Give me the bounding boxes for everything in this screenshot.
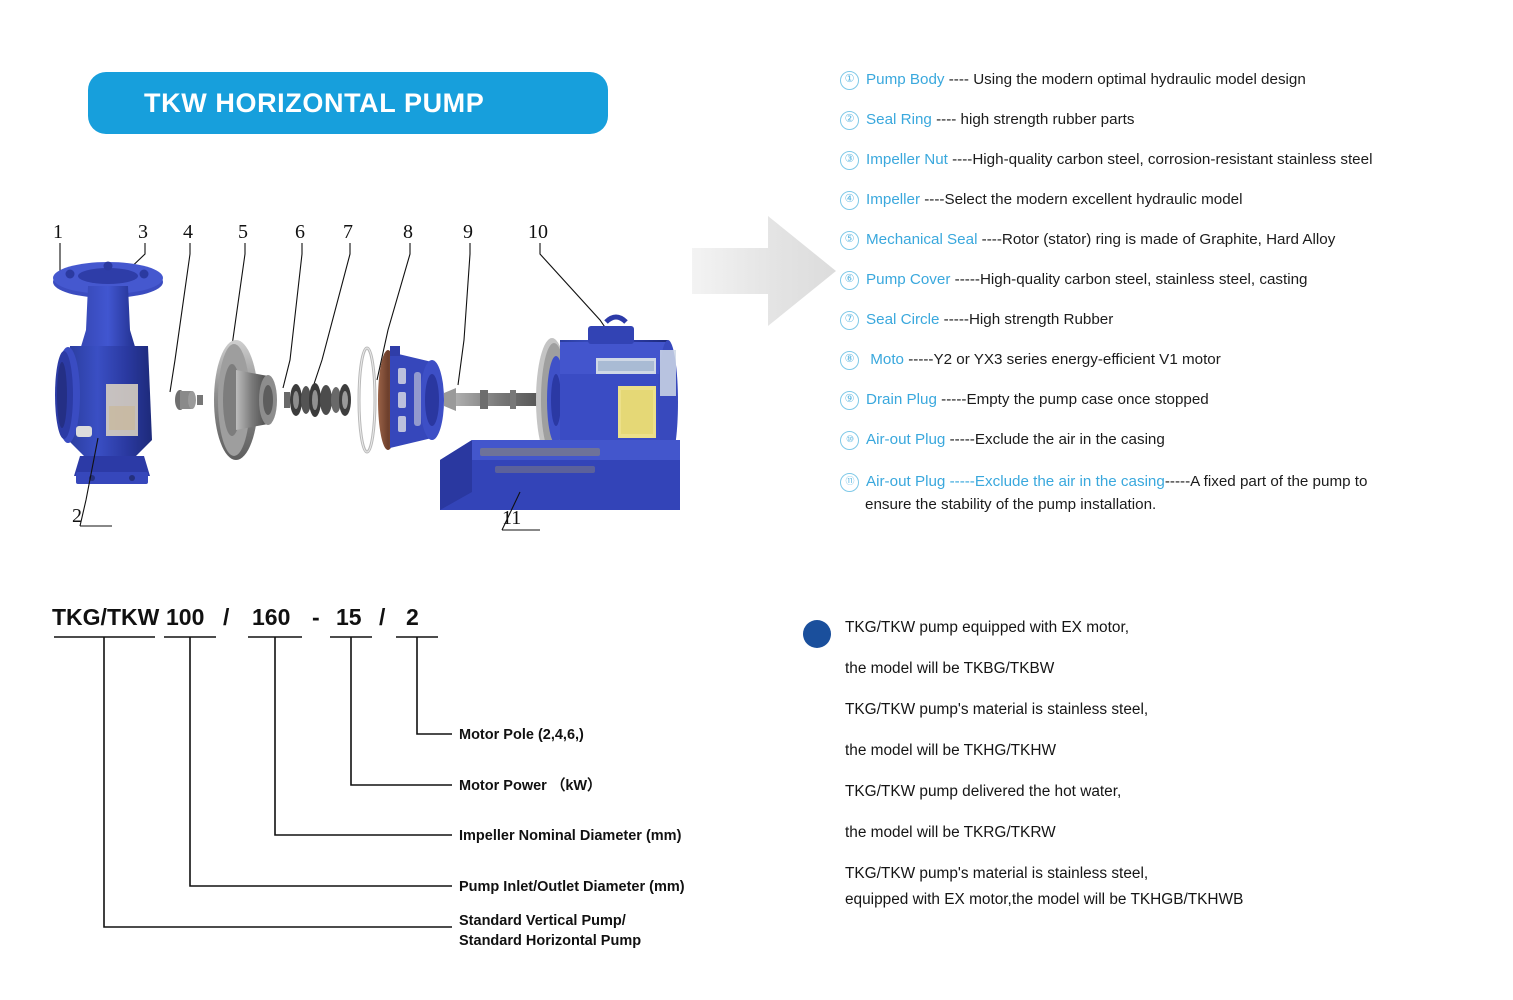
legend-number-3: ③ bbox=[840, 151, 859, 170]
model-code-pole: 2 bbox=[406, 604, 419, 630]
motor-shaft-part bbox=[444, 388, 552, 411]
legend-item-11: ⑪Air-out Plug -----Exclude the air in th… bbox=[840, 470, 1480, 516]
model-code-slash2: / bbox=[379, 604, 386, 630]
impeller-nut-part bbox=[175, 390, 203, 410]
label-motor-pole: Motor Pole (2,4,6,) bbox=[459, 727, 584, 743]
model-code-impeller: 160 bbox=[252, 604, 290, 630]
callout-9: 9 bbox=[463, 221, 473, 243]
model-code-dash: - bbox=[312, 604, 320, 630]
note-line-3: TKG/TKW pump's material is stainless ste… bbox=[845, 700, 1465, 720]
legend-item-5: ⑤Mechanical Seal ----Rotor (stator) ring… bbox=[840, 230, 1500, 270]
legend-separator-9: ----- bbox=[937, 391, 967, 408]
note-line-5: TKG/TKW pump delivered the hot water, bbox=[845, 782, 1465, 802]
seal-circle-part bbox=[359, 348, 375, 452]
note-line-2: the model will be TKBG/TKBW bbox=[845, 659, 1465, 679]
mechanical-seal-part bbox=[284, 383, 351, 417]
callout-1: 1 bbox=[53, 221, 63, 243]
legend-separator-10: ----- bbox=[945, 431, 975, 448]
pump-body-part bbox=[53, 262, 163, 485]
model-naming-notes: TKG/TKW pump equipped with EX motor, the… bbox=[845, 618, 1465, 931]
callout-2: 2 bbox=[72, 505, 82, 527]
pump-cover-part bbox=[378, 346, 444, 450]
callout-4: 4 bbox=[183, 221, 193, 243]
notes-bullet-dot bbox=[803, 620, 831, 648]
legend-description-9: Empty the pump case once stopped bbox=[966, 391, 1208, 408]
model-code-breakdown: TKG/TKW 100 / 160 - 15 / 2 Motor Pole (2… bbox=[40, 595, 740, 955]
label-impeller-diameter: Impeller Nominal Diameter (mm) bbox=[459, 828, 682, 844]
legend-number-7: ⑦ bbox=[840, 311, 859, 330]
legend-description-11-blue: Exclude the air in the casing bbox=[975, 473, 1165, 490]
legend-item-8: ⑧ Moto -----Y2 or YX3 series energy-effi… bbox=[840, 350, 1500, 390]
callout-5: 5 bbox=[238, 221, 248, 243]
legend-number-10: ⑩ bbox=[840, 431, 859, 450]
note-text-8: equipped with EX motor,the model will be… bbox=[845, 891, 1243, 908]
note-line-4: the model will be TKHG/TKHW bbox=[845, 741, 1465, 761]
label-standard-vertical: Standard Vertical Pump/ bbox=[459, 913, 626, 929]
legend-separator-7: ----- bbox=[939, 311, 969, 328]
legend-description-6: High-quality carbon steel, stainless ste… bbox=[980, 271, 1308, 288]
legend-separator-2: ---- bbox=[932, 111, 961, 128]
legend-item-6: ⑥Pump Cover -----High-quality carbon ste… bbox=[840, 270, 1500, 310]
callout-10: 10 bbox=[528, 221, 548, 243]
note-text-7: TKG/TKW pump's material is stainless ste… bbox=[845, 865, 1148, 882]
note-line-7: TKG/TKW pump's material is stainless ste… bbox=[845, 864, 1465, 884]
legend-part-name-1: Pump Body bbox=[866, 71, 945, 88]
note-line-8: equipped with EX motor,the model will be… bbox=[845, 890, 1465, 910]
callout-11: 11 bbox=[502, 507, 521, 529]
note-text-4: the model will be TKHG/TKHW bbox=[845, 742, 1056, 759]
legend-number-6: ⑥ bbox=[840, 271, 859, 290]
legend-number-2: ② bbox=[840, 111, 859, 130]
note-text-1: TKG/TKW pump equipped with EX motor, bbox=[845, 619, 1129, 636]
legend-description-10: Exclude the air in the casing bbox=[975, 431, 1165, 448]
legend-part-name-6: Pump Cover bbox=[866, 271, 950, 288]
legend-number-5: ⑤ bbox=[840, 231, 859, 250]
legend-description-1: Using the modern optimal hydraulic model… bbox=[973, 71, 1306, 88]
page-title-banner: TKW HORIZONTAL PUMP bbox=[88, 72, 608, 134]
legend-description-7: High strength Rubber bbox=[969, 311, 1113, 328]
legend-separator-8: ----- bbox=[904, 351, 934, 368]
callout-7: 7 bbox=[343, 221, 353, 243]
legend-item-1: ①Pump Body ---- Using the modern optimal… bbox=[840, 70, 1500, 110]
note-line-1: TKG/TKW pump equipped with EX motor, bbox=[845, 618, 1465, 638]
model-code-inlet: 100 bbox=[166, 604, 204, 630]
legend-number-9: ⑨ bbox=[840, 391, 859, 410]
model-code-slash1: / bbox=[223, 604, 230, 630]
legend-part-name-5: Mechanical Seal bbox=[866, 231, 977, 248]
label-inlet-diameter: Pump Inlet/Outlet Diameter (mm) bbox=[459, 879, 685, 895]
callout-3: 3 bbox=[138, 221, 148, 243]
legend-part-name-7: Seal Circle bbox=[866, 311, 939, 328]
label-standard-horizontal: Standard Horizontal Pump bbox=[459, 933, 641, 949]
legend-description-3: High-quality carbon steel, corrosion-res… bbox=[972, 151, 1372, 168]
legend-item-4: ④Impeller ----Select the modern excellen… bbox=[840, 190, 1500, 230]
legend-separator-5: ---- bbox=[977, 231, 1001, 248]
model-code-power: 15 bbox=[336, 604, 362, 630]
legend-item-9: ⑨Drain Plug -----Empty the pump case onc… bbox=[840, 390, 1500, 430]
legend-part-name-4: Impeller bbox=[866, 191, 920, 208]
legend-separator-3: ---- bbox=[948, 151, 972, 168]
legend-description-4: Select the modern excellent hydraulic mo… bbox=[944, 191, 1242, 208]
legend-description-5: Rotor (stator) ring is made of Graphite,… bbox=[1002, 231, 1335, 248]
legend-part-name-3: Impeller Nut bbox=[866, 151, 948, 168]
legend-separator-4: ---- bbox=[920, 191, 944, 208]
model-code-prefix: TKG/TKW bbox=[52, 604, 160, 630]
base-plate-part bbox=[440, 440, 680, 510]
impeller-part bbox=[214, 340, 277, 460]
label-motor-power: Motor Power （kW） bbox=[459, 776, 602, 794]
note-text-6: the model will be TKRG/TKRW bbox=[845, 824, 1056, 841]
parts-legend-list: ①Pump Body ---- Using the modern optimal… bbox=[840, 70, 1500, 516]
callout-6: 6 bbox=[295, 221, 305, 243]
legend-number-8: ⑧ bbox=[840, 351, 859, 370]
note-text-2: the model will be TKBG/TKBW bbox=[845, 660, 1054, 677]
note-text-5: TKG/TKW pump delivered the hot water, bbox=[845, 783, 1121, 800]
exploded-pump-diagram: 1 3 4 5 6 7 8 9 10 bbox=[40, 210, 680, 560]
legend-description-11-tail: -----A fixed part of the pump to bbox=[1165, 473, 1368, 490]
legend-number-1: ① bbox=[840, 71, 859, 90]
callout-8: 8 bbox=[403, 221, 413, 243]
legend-part-name-11: Air-out Plug bbox=[866, 473, 945, 490]
legend-part-name-10: Air-out Plug bbox=[866, 431, 945, 448]
legend-number-11: ⑪ bbox=[840, 473, 859, 492]
page-title: TKW HORIZONTAL PUMP bbox=[144, 88, 484, 119]
legend-separator-6: ----- bbox=[950, 271, 980, 288]
legend-description-8: Y2 or YX3 series energy-efficient V1 mot… bbox=[934, 351, 1221, 368]
legend-description-11-line2: ensure the stability of the pump install… bbox=[865, 493, 1480, 516]
flow-arrow-icon bbox=[690, 212, 860, 330]
legend-number-4: ④ bbox=[840, 191, 859, 210]
legend-item-2: ②Seal Ring ---- high strength rubber par… bbox=[840, 110, 1500, 150]
legend-item-7: ⑦Seal Circle -----High strength Rubber bbox=[840, 310, 1500, 350]
legend-part-name-8: Moto bbox=[866, 351, 904, 368]
legend-description-2: high strength rubber parts bbox=[961, 111, 1135, 128]
legend-part-name-2: Seal Ring bbox=[866, 111, 932, 128]
legend-separator-1: ---- bbox=[945, 71, 974, 88]
legend-item-3: ③Impeller Nut ----High-quality carbon st… bbox=[840, 150, 1500, 190]
note-text-3: TKG/TKW pump's material is stainless ste… bbox=[845, 701, 1148, 718]
legend-separator-11: ----- bbox=[945, 473, 975, 490]
note-line-6: the model will be TKRG/TKRW bbox=[845, 823, 1465, 843]
legend-item-10: ⑩Air-out Plug -----Exclude the air in th… bbox=[840, 430, 1500, 470]
legend-part-name-9: Drain Plug bbox=[866, 391, 937, 408]
